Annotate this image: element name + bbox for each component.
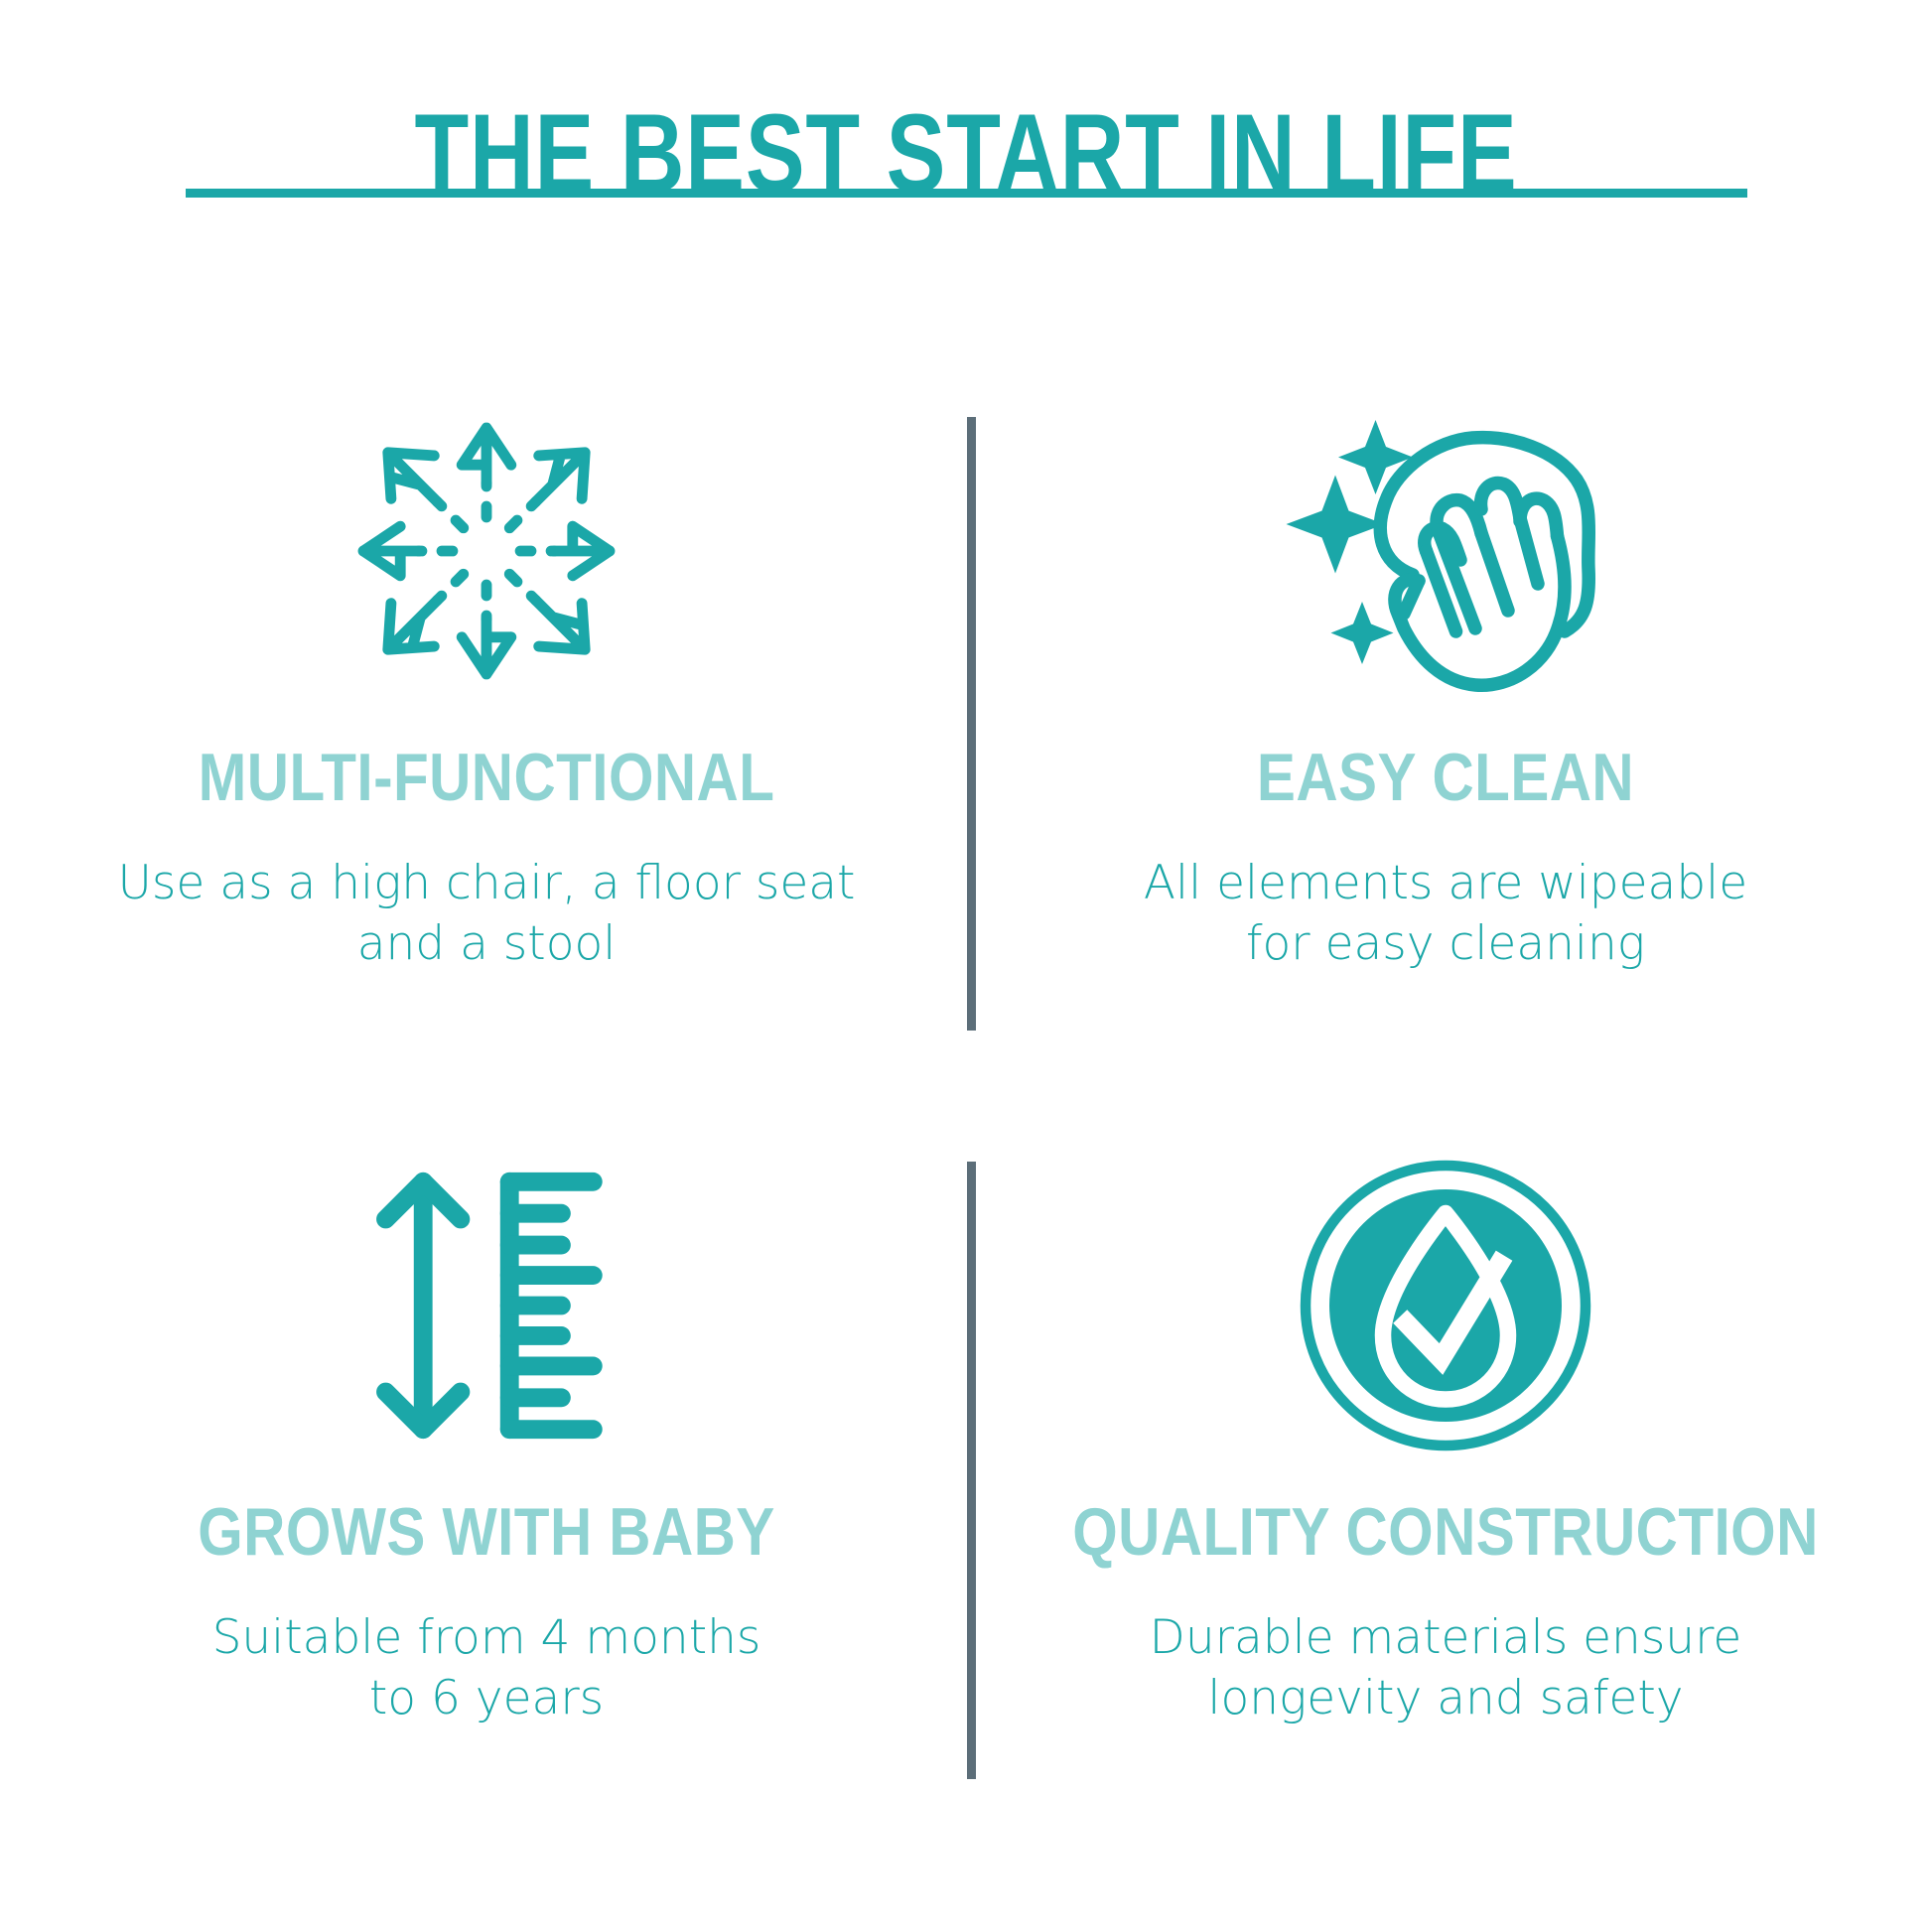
feature-card-grows-with-baby: GROWS WITH BABY Suitable from 4 months t… bbox=[50, 1142, 923, 1728]
droplet-check-badge-icon bbox=[1009, 1142, 1882, 1469]
ruler-height-arrow-icon bbox=[50, 1142, 923, 1469]
feature-heading-multi-functional: MULTI-FUNCTIONAL bbox=[111, 741, 863, 815]
vertical-divider-bottom bbox=[967, 1162, 976, 1779]
vertical-divider-top bbox=[967, 417, 976, 1031]
feature-heading-quality-construction: QUALITY CONSTRUCTION bbox=[1070, 1495, 1822, 1570]
feature-description-grows-with-baby: Suitable from 4 months to 6 years bbox=[69, 1607, 903, 1728]
features-grid: MULTI-FUNCTIONAL Use as a high chair, a … bbox=[0, 387, 1932, 1876]
feature-heading-easy-clean: EASY CLEAN bbox=[1070, 741, 1822, 815]
hand-wiping-cloth-icon bbox=[1009, 387, 1882, 715]
title-underline-divider bbox=[186, 189, 1747, 198]
feature-heading-grows-with-baby: GROWS WITH BABY bbox=[111, 1495, 863, 1570]
expand-arrows-icon bbox=[50, 387, 923, 715]
feature-description-multi-functional: Use as a high chair, a floor seat and a … bbox=[69, 853, 903, 974]
feature-card-quality-construction: QUALITY CONSTRUCTION Durable materials e… bbox=[1009, 1142, 1882, 1728]
feature-card-easy-clean: EASY CLEAN All elements are wipeable for… bbox=[1009, 387, 1882, 974]
infographic-page: THE BEST START IN LIFE bbox=[0, 0, 1932, 1932]
feature-card-multi-functional: MULTI-FUNCTIONAL Use as a high chair, a … bbox=[50, 387, 923, 974]
feature-description-quality-construction: Durable materials ensure longevity and s… bbox=[1029, 1607, 1863, 1728]
feature-description-easy-clean: All elements are wipeable for easy clean… bbox=[1029, 853, 1863, 974]
